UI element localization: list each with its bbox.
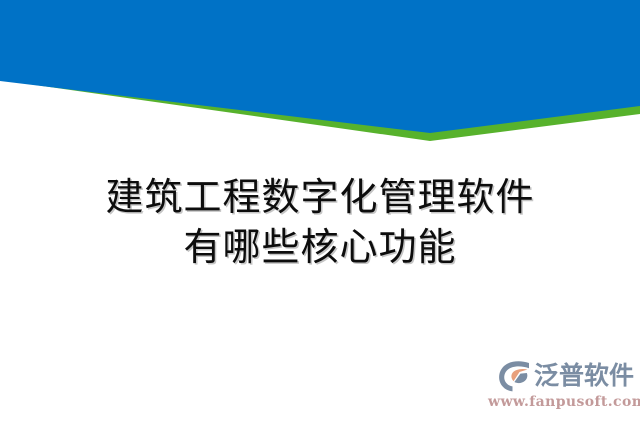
brand-logo: 泛普软件 www.fanpusoft.com: [488, 359, 634, 415]
page-title: 建筑工程数字化管理软件 有哪些核心功能: [0, 172, 640, 272]
brand-name: 泛普软件: [534, 361, 634, 391]
top-banner-decoration: [0, 0, 640, 150]
banner-green-accent: [0, 71, 640, 141]
brand-website-url: www.fanpusoft.com: [488, 393, 634, 411]
title-line-2: 有哪些核心功能: [0, 222, 640, 272]
slide-canvas: 建筑工程数字化管理软件 有哪些核心功能 泛普软件 www.fanpusoft.c…: [0, 0, 640, 427]
brand-logo-row: 泛普软件: [488, 359, 634, 393]
title-line-1: 建筑工程数字化管理软件: [0, 172, 640, 222]
fanpu-logo-mark-icon: [498, 360, 532, 392]
banner-blue-chevron: [0, 0, 640, 133]
